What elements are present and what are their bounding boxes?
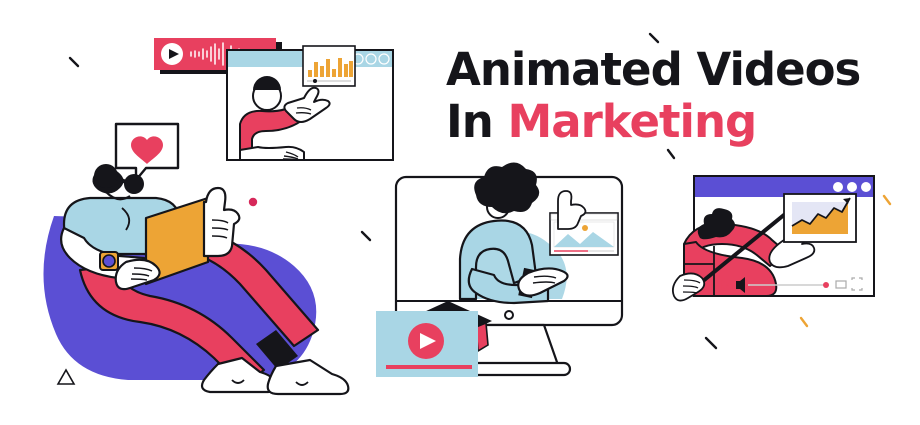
reader-shoe-front xyxy=(268,360,349,394)
window-dot-3[interactable] xyxy=(861,182,871,192)
monitor-power-dot[interactable] xyxy=(505,311,513,319)
controls-progress-dot[interactable] xyxy=(823,282,829,288)
tick-mark-top-left xyxy=(70,58,78,66)
watch-face xyxy=(103,255,115,267)
tick-mark-orange xyxy=(801,318,807,326)
sunglasses-lens-left xyxy=(94,164,118,188)
scene-growth-chart xyxy=(672,168,892,318)
window-dot-2[interactable] xyxy=(847,182,857,192)
sun-icon xyxy=(582,225,588,231)
window-dot-3[interactable] xyxy=(379,54,389,64)
tick-mark-top-right xyxy=(650,34,658,42)
window-dot-1[interactable] xyxy=(833,182,843,192)
window-dot-2[interactable] xyxy=(366,54,376,64)
reclining-reader-illustration xyxy=(20,150,380,400)
tick-mark-bottom-right xyxy=(706,338,716,348)
chart-slider-handle[interactable] xyxy=(313,79,317,83)
banner-root: Animated Videos In Marketing xyxy=(0,0,920,425)
desktop-monitor-scene xyxy=(378,165,634,391)
sunglasses-lens-right xyxy=(124,174,144,194)
tick-mark-mid-left xyxy=(668,150,674,158)
monitor-person-hair xyxy=(474,162,539,213)
video-card-progress-bar[interactable] xyxy=(386,365,472,369)
